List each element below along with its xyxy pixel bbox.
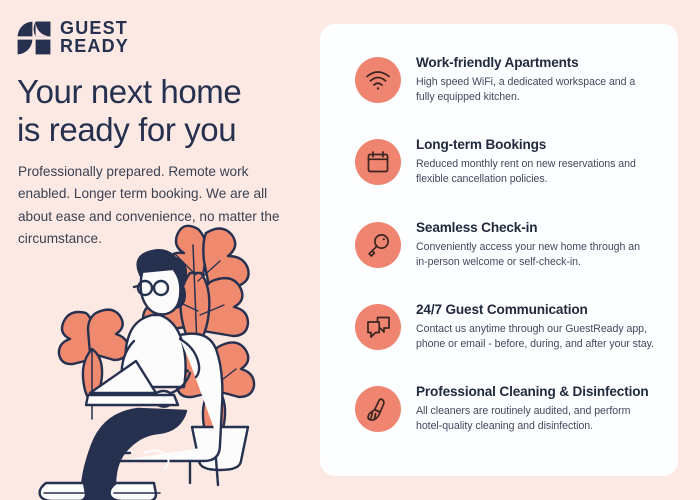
headline-line-1: Your next home [17, 73, 307, 111]
page-title: Your next home is ready for you [17, 73, 307, 150]
left-column: GUEST READY Your next home is ready for … [0, 0, 320, 500]
feature-desc-line-2: hotel-quality cleaning and disinfection. [416, 419, 649, 434]
calendar-icon [355, 139, 401, 185]
feature-description: Conveniently access your new home throug… [416, 240, 640, 270]
feature-description: High speed WiFi, a dedicated workspace a… [416, 75, 635, 105]
feature-text: Long-term Bookings Reduced monthly rent … [416, 136, 636, 187]
subcopy-line-1: Professionally prepared. Remote work [18, 164, 248, 179]
brand-name-line2: READY [60, 38, 129, 56]
feature-text: Seamless Check-in Conveniently access yo… [416, 219, 640, 270]
feature-title: Professional Cleaning & Disinfection [416, 384, 649, 401]
feature-item[interactable]: Professional Cleaning & Disinfection All… [355, 383, 655, 434]
feature-title: Long-term Bookings [416, 137, 636, 154]
wifi-icon [355, 57, 401, 103]
chat-bubbles-icon [355, 304, 401, 350]
feature-desc-line-2: in-person welcome or self-check-in. [416, 255, 640, 270]
headline-line-2: is ready for you [17, 111, 307, 149]
feature-desc-line-2: fully equipped kitchen. [416, 90, 635, 105]
feature-item[interactable]: Seamless Check-in Conveniently access yo… [355, 219, 655, 270]
brand-logo[interactable]: GUEST READY [17, 20, 129, 55]
brand-name-line1: GUEST [60, 20, 129, 38]
feature-item[interactable]: Long-term Bookings Reduced monthly rent … [355, 136, 655, 187]
feature-desc-line-1: Conveniently access your new home throug… [416, 240, 640, 255]
brand-wordmark: GUEST READY [60, 20, 129, 55]
subcopy-line-2: enabled. Longer term booking. We are all [18, 186, 267, 201]
feature-text: Professional Cleaning & Disinfection All… [416, 383, 649, 434]
feature-desc-line-1: All cleaners are routinely audited, and … [416, 404, 649, 419]
key-icon [355, 222, 401, 268]
person-icon [40, 249, 200, 500]
feature-title: Work-friendly Apartments [416, 55, 635, 72]
features-card: Work-friendly Apartments High speed WiFi… [320, 24, 678, 476]
guestready-quadrant-logo-icon [17, 21, 51, 55]
feature-desc-line-1: High speed WiFi, a dedicated workspace a… [416, 75, 635, 90]
feature-description: Contact us anytime through our GuestRead… [416, 322, 654, 352]
feature-item[interactable]: 24/7 Guest Communication Contact us anyt… [355, 301, 655, 352]
feature-desc-line-1: Reduced monthly rent on new reservations… [416, 157, 636, 172]
feature-text: 24/7 Guest Communication Contact us anyt… [416, 301, 654, 352]
promo-page: GUEST READY Your next home is ready for … [0, 0, 700, 500]
feature-item[interactable]: Work-friendly Apartments High speed WiFi… [355, 54, 655, 105]
feature-title: 24/7 Guest Communication [416, 302, 654, 319]
feature-description: All cleaners are routinely audited, and … [416, 404, 649, 434]
feature-desc-line-2: flexible cancellation policies. [416, 172, 636, 187]
feature-desc-line-2: phone or email - before, during, and aft… [416, 337, 654, 352]
feature-title: Seamless Check-in [416, 220, 640, 237]
feature-description: Reduced monthly rent on new reservations… [416, 157, 636, 187]
feature-desc-line-1: Contact us anytime through our GuestRead… [416, 322, 654, 337]
broom-icon [355, 386, 401, 432]
hero-illustration [30, 215, 320, 500]
feature-text: Work-friendly Apartments High speed WiFi… [416, 54, 635, 105]
